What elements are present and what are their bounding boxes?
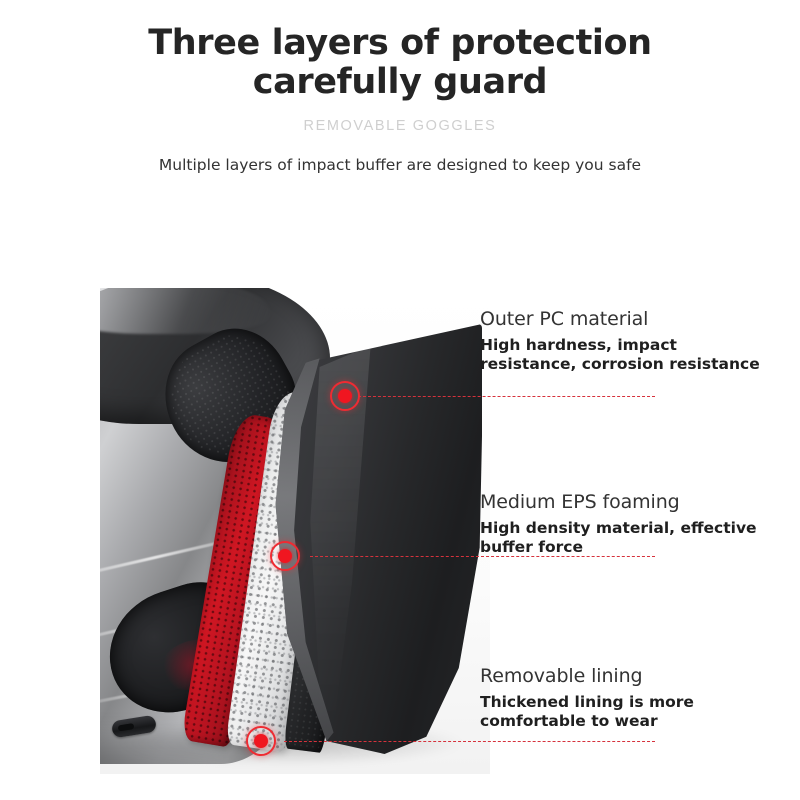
callout-marker-dot-icon [278, 549, 292, 563]
callout-marker-medium-eps-foaming[interactable] [270, 541, 300, 571]
callout-heading: Removable lining [480, 665, 770, 687]
callout-medium-eps-foaming: Medium EPS foaming High density material… [480, 491, 770, 557]
callout-heading: Outer PC material [480, 308, 770, 330]
callout-marker-dot-icon [338, 389, 352, 403]
product-photo [100, 288, 490, 774]
callout-line-outer-pc-material [358, 396, 655, 397]
callout-marker-removable-lining[interactable] [246, 726, 276, 756]
callout-description: Thickened lining is more comfortable to … [480, 693, 770, 731]
helmet-cap-highlight [100, 288, 270, 334]
callout-marker-outer-pc-material[interactable] [330, 381, 360, 411]
callout-removable-lining: Removable lining Thickened lining is mor… [480, 665, 770, 731]
callout-description: High hardness, impact resistance, corros… [480, 336, 770, 374]
page-eyebrow: REMOVABLE GOGGLES [0, 102, 800, 134]
page-title: Three layers of protection carefully gua… [0, 0, 800, 102]
page-tagline: Multiple layers of impact buffer are des… [0, 134, 800, 174]
callout-line-removable-lining [284, 741, 655, 742]
callout-heading: Medium EPS foaming [480, 491, 770, 513]
callout-outer-pc-material: Outer PC material High hardness, impact … [480, 308, 770, 374]
page-title-line-1: Three layers of protection [148, 23, 651, 63]
callout-marker-dot-icon [254, 734, 268, 748]
page-header: Three layers of protection carefully gua… [0, 0, 800, 174]
page-title-line-2: carefully guard [0, 63, 800, 102]
callout-description: High density material, effective buffer … [480, 519, 770, 557]
product-feature-page: Three layers of protection carefully gua… [0, 0, 800, 800]
